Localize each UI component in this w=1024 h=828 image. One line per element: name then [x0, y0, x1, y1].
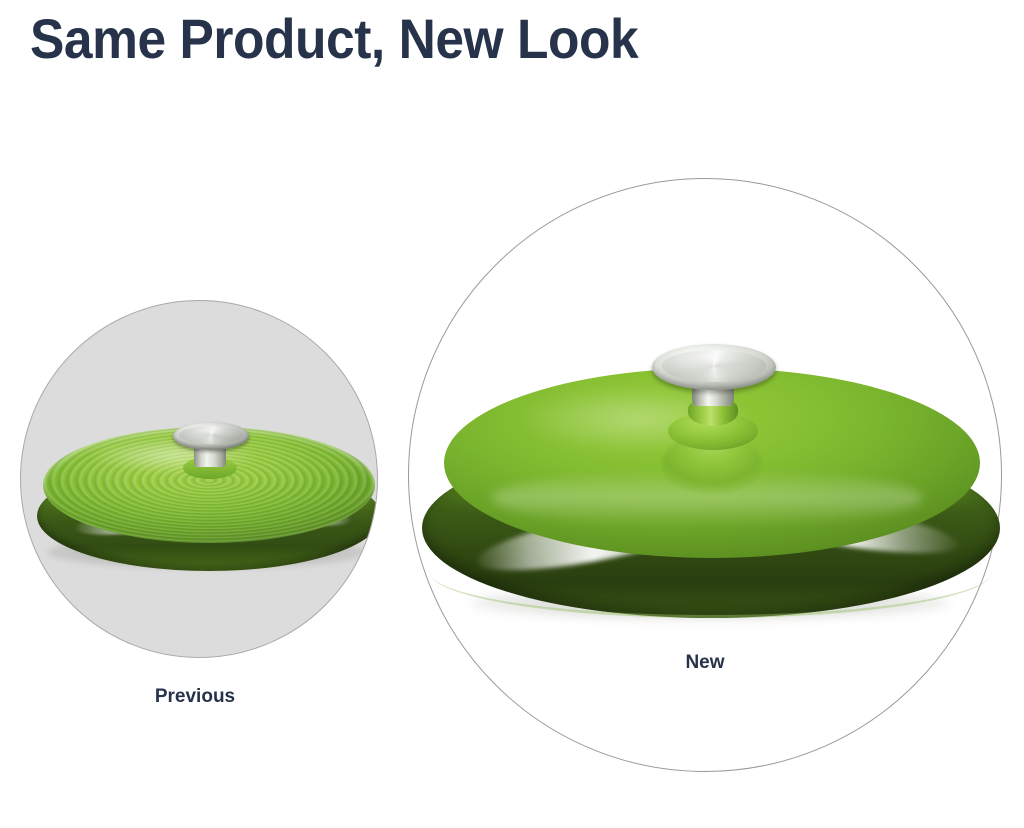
new-product-panel: New: [400, 160, 1024, 828]
product-comparison-canvas: Same Product, New Look Previous: [0, 0, 1024, 828]
previous-knob-cap: [173, 422, 249, 450]
previous-caption: Previous: [95, 686, 295, 708]
previous-product-circle: [20, 300, 378, 658]
new-knob-cap: [652, 344, 776, 390]
new-lid-illustration: [400, 350, 1024, 650]
page-title: Same Product, New Look: [30, 6, 913, 78]
previous-product-panel: Previous: [0, 290, 400, 750]
new-caption: New: [605, 652, 805, 674]
previous-lid-illustration: [20, 413, 378, 593]
